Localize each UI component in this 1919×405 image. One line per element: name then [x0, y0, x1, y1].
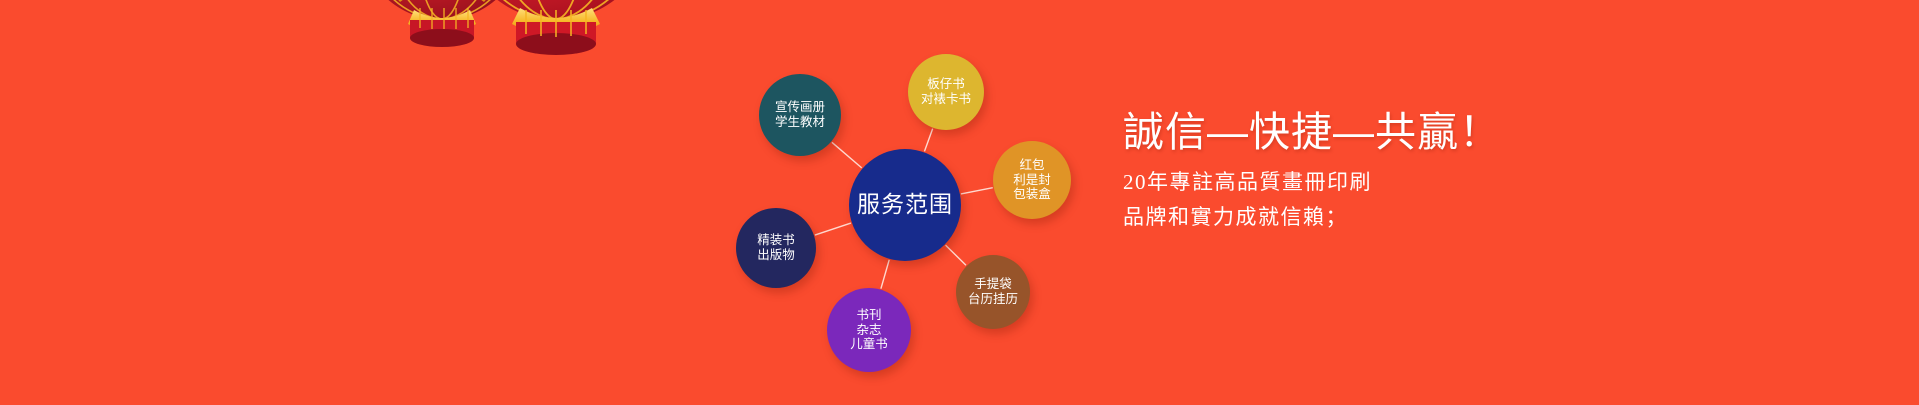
service-scope-diagram: 宣传画册学生教材板仔书对裱卡书红包利是封包装盒手提袋台历挂历书刊杂志儿童书精装书…	[0, 0, 1100, 405]
node-books-magazines[interactable]: 书刊杂志儿童书	[827, 288, 911, 372]
bubble-label-line: 学生教材	[775, 115, 825, 130]
bubble-label-line: 台历挂历	[968, 292, 1018, 307]
slogan-subline-1: 20年專註高品質畫冊印刷	[1123, 166, 1743, 199]
connector-line	[881, 260, 889, 289]
slogan-headline: 誠信—快捷—共贏！	[1123, 108, 1743, 156]
bubble-label-line: 精装书	[757, 233, 795, 248]
slogan-block: 誠信—快捷—共贏！ 20年專註高品質畫冊印刷 品牌和實力成就信賴；	[1123, 108, 1743, 233]
bubble-label-line: 杂志	[856, 323, 881, 338]
bubble-label-line: 书刊	[856, 308, 881, 323]
bubble-label-line: 出版物	[757, 248, 795, 263]
connector-line	[946, 245, 966, 265]
bubble-label-line: 宣传画册	[775, 100, 825, 115]
promo-banner: 宣传画册学生教材板仔书对裱卡书红包利是封包装盒手提袋台历挂历书刊杂志儿童书精装书…	[0, 0, 1919, 405]
slogan-subline-2: 品牌和實力成就信賴；	[1123, 201, 1743, 234]
connector-line	[961, 188, 993, 194]
bubble-label-line: 包装盒	[1013, 187, 1051, 202]
bubble-label-line: 儿童书	[850, 337, 888, 352]
node-handbags-calendars[interactable]: 手提袋台历挂历	[956, 255, 1030, 329]
node-red-packets[interactable]: 红包利是封包装盒	[993, 141, 1071, 219]
connector-line	[924, 129, 932, 152]
bubble-label-line: 服务范围	[857, 191, 953, 218]
node-hardcover-publications[interactable]: 精装书出版物	[736, 208, 816, 288]
bubble-label-line: 板仔书	[927, 77, 965, 92]
node-board-books[interactable]: 板仔书对裱卡书	[908, 54, 984, 130]
connector-line	[832, 142, 862, 168]
node-promotional-albums[interactable]: 宣传画册学生教材	[759, 74, 841, 156]
bubble-label-line: 对裱卡书	[921, 92, 971, 107]
bubble-label-line: 利是封	[1013, 173, 1051, 188]
bubble-label-line: 红包	[1019, 158, 1044, 173]
node-service-scope-center[interactable]: 服务范围	[849, 149, 961, 261]
connector-line	[815, 223, 851, 235]
bubble-label-line: 手提袋	[974, 277, 1012, 292]
